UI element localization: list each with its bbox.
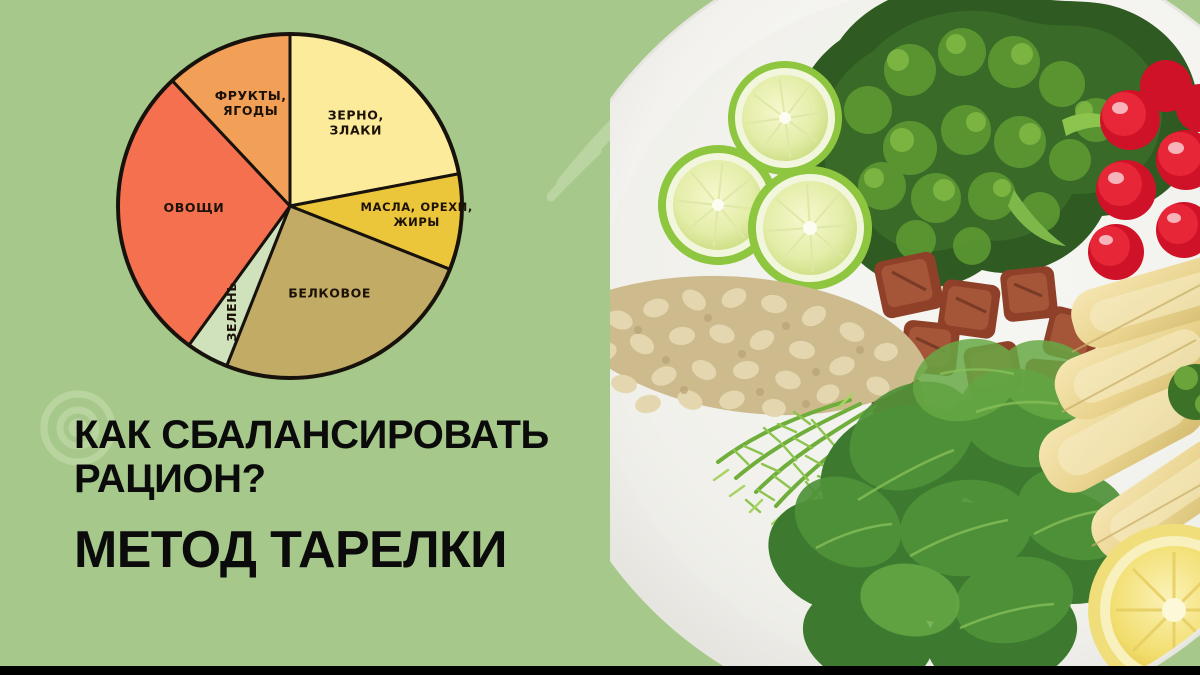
headline-block: КАК СБАЛАНСИРОВАТЬ РАЦИОН? МЕТОД ТАРЕЛКИ <box>74 413 674 579</box>
headline-main: МЕТОД ТАРЕЛКИ <box>74 521 674 579</box>
pie-slice-label: ФРУКТЫ,ЯГОДЫ <box>215 88 287 118</box>
pie-slice-label: ЗЕРНО,ЗЛАКИ <box>328 108 384 138</box>
pie-slice-label: ЗЕЛЕНЬ <box>224 282 239 342</box>
food-groups-pie-chart: ЗЕРНО,ЗЛАКИМАСЛА, ОРЕХИ,ЖИРЫБЕЛКОВОЕЗЕЛЕ… <box>110 26 476 392</box>
balanced-meal-bowl-photo <box>610 0 1200 675</box>
bottom-letterbox-bar <box>0 666 1200 675</box>
headline-question: КАК СБАЛАНСИРОВАТЬ РАЦИОН? <box>74 413 674 501</box>
pie-slice-label: ОВОЩИ <box>163 200 224 215</box>
infographic-canvas: ЗЕРНО,ЗЛАКИМАСЛА, ОРЕХИ,ЖИРЫБЕЛКОВОЕЗЕЛЕ… <box>0 0 1200 675</box>
pie-slice-label: БЕЛКОВОЕ <box>288 286 371 301</box>
